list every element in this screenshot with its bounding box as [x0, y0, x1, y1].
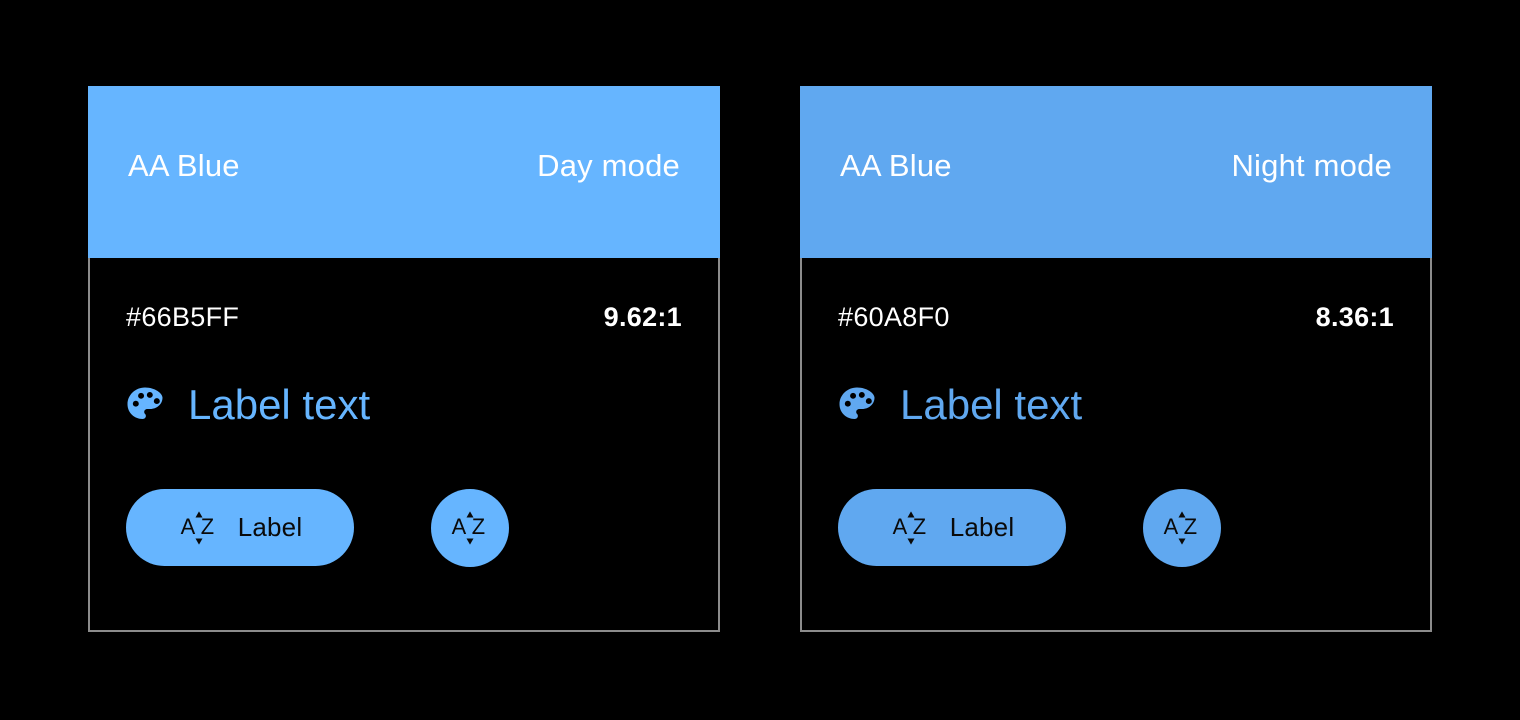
palette-icon: [124, 384, 166, 426]
svg-text:Z: Z: [200, 514, 213, 539]
label-text-night: Label text: [900, 384, 1082, 426]
card-title-day: AA Blue: [128, 148, 240, 184]
sort-label-button-night[interactable]: A Z Label: [838, 489, 1066, 566]
buttons-row-night: A Z Label A Z: [838, 489, 1394, 569]
sort-down-arrow: [195, 538, 202, 544]
palette-well-4: [154, 398, 160, 404]
swatch-info-row-day: #66B5FF 9.62:1: [90, 302, 718, 336]
svg-text:A: A: [1164, 514, 1179, 539]
card-mode-label-night: Night mode: [1231, 148, 1392, 184]
label-text-row-night: Label text: [836, 384, 1082, 426]
card-title-night: AA Blue: [840, 148, 952, 184]
buttons-row-day: A Z Label A Z: [126, 489, 682, 569]
svg-text:A: A: [892, 514, 907, 539]
svg-text:A: A: [180, 514, 195, 539]
sort-label-button-day[interactable]: A Z Label: [126, 489, 354, 566]
sort-down-arrow: [467, 539, 474, 545]
sort-down-arrow: [907, 538, 914, 544]
sort-alpha-icon: A Z: [1161, 507, 1203, 549]
card-header-day: AA Blue Day mode: [88, 86, 720, 258]
palette-well-1: [133, 401, 139, 407]
sort-alpha-icon: A Z: [449, 507, 491, 549]
palette-well-3: [147, 392, 153, 398]
sort-fab-button-day[interactable]: A Z: [431, 489, 509, 567]
svg-text:A: A: [452, 514, 467, 539]
palette-well-2: [138, 393, 144, 399]
color-preview-card-day: AA Blue Day mode #66B5FF 9.62:1 Label te…: [88, 86, 720, 632]
palette-well-3: [859, 392, 865, 398]
svg-text:Z: Z: [1184, 514, 1197, 539]
sort-down-arrow: [1179, 539, 1186, 545]
card-mode-label-day: Day mode: [537, 148, 680, 184]
palette-icon: [836, 384, 878, 426]
palette-well-4: [866, 398, 872, 404]
sort-alpha-icon: A Z: [890, 507, 932, 549]
svg-text:Z: Z: [472, 514, 485, 539]
swatch-hex-value-day: #66B5FF: [126, 302, 239, 333]
sort-button-label-night: Label: [950, 512, 1015, 543]
card-header-night: AA Blue Night mode: [800, 86, 1432, 258]
sort-fab-button-night[interactable]: A Z: [1143, 489, 1221, 567]
card-body-night: #60A8F0 8.36:1 Label text A: [800, 258, 1432, 632]
label-text-row-day: Label text: [124, 384, 370, 426]
color-preview-card-night: AA Blue Night mode #60A8F0 8.36:1 Label …: [800, 86, 1432, 632]
palette-well-2: [850, 393, 856, 399]
svg-text:Z: Z: [912, 514, 925, 539]
label-text-day: Label text: [188, 384, 370, 426]
sort-button-label-day: Label: [238, 512, 303, 543]
contrast-ratio-value-day: 9.62:1: [604, 302, 682, 333]
palette-well-1: [845, 401, 851, 407]
sort-alpha-icon: A Z: [178, 507, 220, 549]
card-body-day: #66B5FF 9.62:1 Label text A: [88, 258, 720, 632]
swatch-hex-value-night: #60A8F0: [838, 302, 950, 333]
swatch-info-row-night: #60A8F0 8.36:1: [802, 302, 1430, 336]
contrast-ratio-value-night: 8.36:1: [1316, 302, 1394, 333]
